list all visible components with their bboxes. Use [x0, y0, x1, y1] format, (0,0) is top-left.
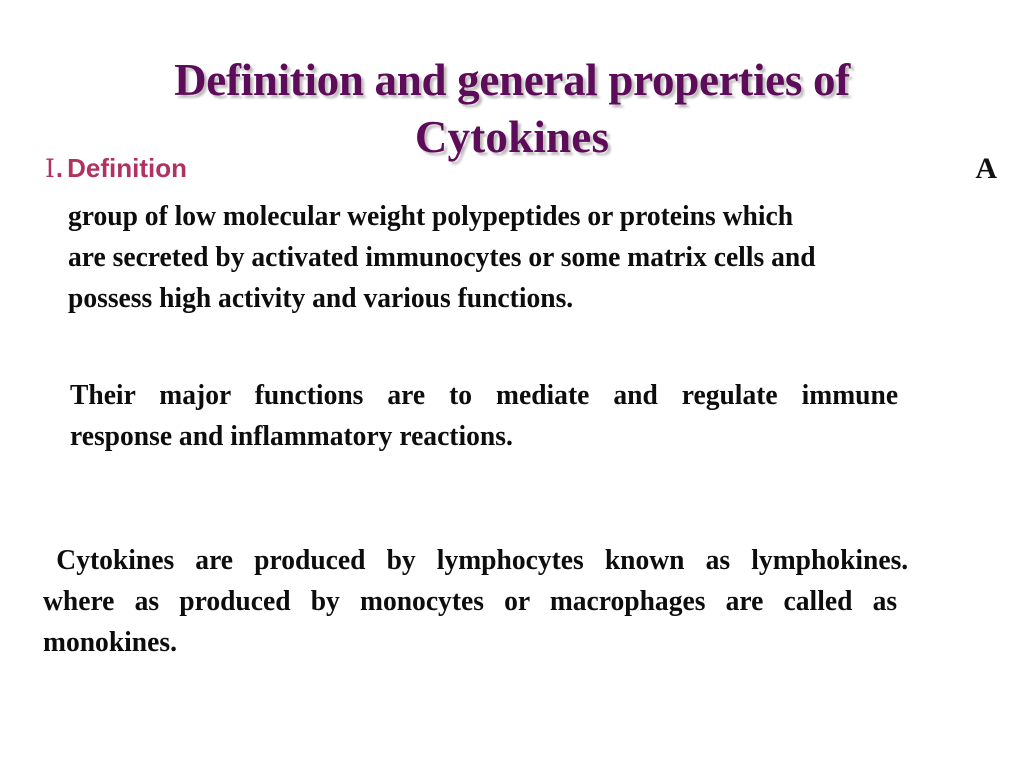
- paragraph-major-functions: Their major functions are to mediate and…: [70, 375, 1020, 457]
- section-heading-numeral: Ⅰ: [45, 156, 56, 183]
- section-heading-separator: .: [56, 153, 63, 183]
- paragraph-line: Cytokines are produced by lymphocytes kn…: [43, 540, 1012, 581]
- paragraph-line: possess high activity and various functi…: [68, 278, 980, 319]
- paragraph-line-text: Cytokines are produced by lymphocytes kn…: [56, 544, 908, 576]
- paragraph-1-leading-word: A: [975, 153, 997, 185]
- paragraph-definition-body: group of low molecular weight polypeptid…: [68, 196, 980, 319]
- paragraph-line: response and inflammatory reactions.: [70, 416, 1020, 457]
- paragraph-line: group of low molecular weight polypeptid…: [68, 196, 980, 237]
- slide-canvas: Definition and general properties of Cyt…: [0, 0, 1024, 768]
- page-title-line-1: Definition and general properties of: [0, 52, 1024, 109]
- section-heading-row: Ⅰ.Definition A: [45, 152, 997, 186]
- paragraph-line: where as produced by monocytes or macrop…: [43, 581, 1012, 622]
- paragraph-line: Their major functions are to mediate and…: [70, 375, 1020, 416]
- section-heading-label: Definition: [67, 153, 187, 183]
- paragraph-lymphokines-monokines: Cytokines are produced by lymphocytes kn…: [43, 540, 1012, 663]
- page-title: Definition and general properties of Cyt…: [0, 52, 1024, 166]
- section-heading: Ⅰ.Definition: [45, 152, 187, 186]
- paragraph-line: monokines.: [43, 622, 1012, 663]
- paragraph-line: are secreted by activated immunocytes or…: [68, 237, 980, 278]
